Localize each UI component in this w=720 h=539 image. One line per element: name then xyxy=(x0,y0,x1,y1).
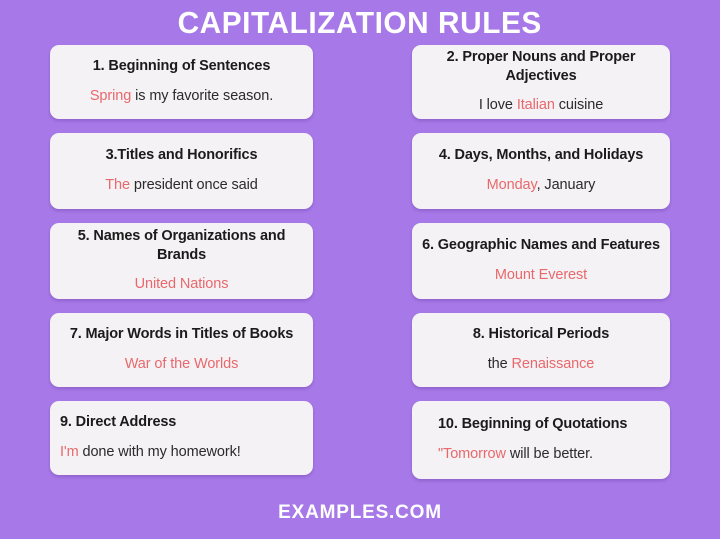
rule-card-8: 8. Historical Periods the Renaissance xyxy=(412,313,670,387)
rule-title: 6. Geographic Names and Features xyxy=(422,236,660,255)
capitalization-rules-poster: CAPITALIZATION RULES 1. Beginning of Sen… xyxy=(0,0,720,539)
brand-footer: EXAMPLES.COM xyxy=(0,502,720,524)
rule-title: 9. Direct Address xyxy=(60,413,303,432)
rule-example: The president once said xyxy=(60,175,303,195)
rule-card-2: 2. Proper Nouns and Proper Adjectives I … xyxy=(412,45,670,119)
example-highlight: Renaissance xyxy=(512,356,595,372)
example-highlight: The xyxy=(105,177,130,193)
rule-card-9: 9. Direct Address I'm done with my homew… xyxy=(50,401,313,475)
rule-title: 4. Days, Months, and Holidays xyxy=(422,146,660,165)
example-highlight: Mount Everest xyxy=(495,267,587,283)
rule-title: 10. Beginning of Quotations xyxy=(422,415,660,434)
rule-title: 8. Historical Periods xyxy=(422,325,660,344)
rule-example: the Renaissance xyxy=(422,354,660,374)
rule-title: 2. Proper Nouns and Proper Adjectives xyxy=(422,48,660,87)
example-highlight: Monday xyxy=(487,177,537,193)
rules-grid: 1. Beginning of Sentences Spring is my f… xyxy=(50,45,670,479)
example-suffix: is my favorite season. xyxy=(131,88,273,104)
page-title: CAPITALIZATION RULES xyxy=(178,6,542,40)
example-highlight: United Nations xyxy=(135,276,229,292)
example-highlight: War of the Worlds xyxy=(125,356,239,372)
rule-title: 1. Beginning of Sentences xyxy=(60,57,303,76)
rule-card-3: 3.Titles and Honorifics The president on… xyxy=(50,133,313,209)
rule-example: Mount Everest xyxy=(422,265,660,285)
rule-example: Spring is my favorite season. xyxy=(60,86,303,106)
rule-card-5: 5. Names of Organizations and Brands Uni… xyxy=(50,223,313,299)
example-suffix: , January xyxy=(537,177,596,193)
rule-example: United Nations xyxy=(60,274,303,294)
rule-card-4: 4. Days, Months, and Holidays Monday, Ja… xyxy=(412,133,670,209)
example-prefix: I love xyxy=(479,97,517,113)
example-highlight: Italian xyxy=(517,97,555,113)
rule-title: 5. Names of Organizations and Brands xyxy=(60,227,303,266)
rule-example: I'm done with my homework! xyxy=(60,442,303,462)
rules-column-right: 2. Proper Nouns and Proper Adjectives I … xyxy=(412,45,670,479)
rule-card-10: 10. Beginning of Quotations "Tomorrow wi… xyxy=(412,401,670,479)
rule-title: 7. Major Words in Titles of Books xyxy=(60,325,303,344)
example-suffix: done with my homework! xyxy=(79,444,241,460)
example-suffix: cuisine xyxy=(555,97,603,113)
rule-example: War of the Worlds xyxy=(60,354,303,374)
example-suffix: president once said xyxy=(130,177,258,193)
example-suffix: will be better. xyxy=(506,446,593,462)
rule-card-7: 7. Major Words in Titles of Books War of… xyxy=(50,313,313,387)
rule-title: 3.Titles and Honorifics xyxy=(60,146,303,165)
example-highlight: Spring xyxy=(90,88,131,104)
rule-example: Monday, January xyxy=(422,175,660,195)
rule-card-1: 1. Beginning of Sentences Spring is my f… xyxy=(50,45,313,119)
example-highlight: "Tomorrow xyxy=(438,446,506,462)
rule-card-6: 6. Geographic Names and Features Mount E… xyxy=(412,223,670,299)
example-prefix: the xyxy=(488,356,512,372)
rules-column-left: 1. Beginning of Sentences Spring is my f… xyxy=(50,45,313,479)
rule-example: I love Italian cuisine xyxy=(422,95,660,115)
example-highlight: I'm xyxy=(60,444,79,460)
rule-example: "Tomorrow will be better. xyxy=(422,444,660,464)
